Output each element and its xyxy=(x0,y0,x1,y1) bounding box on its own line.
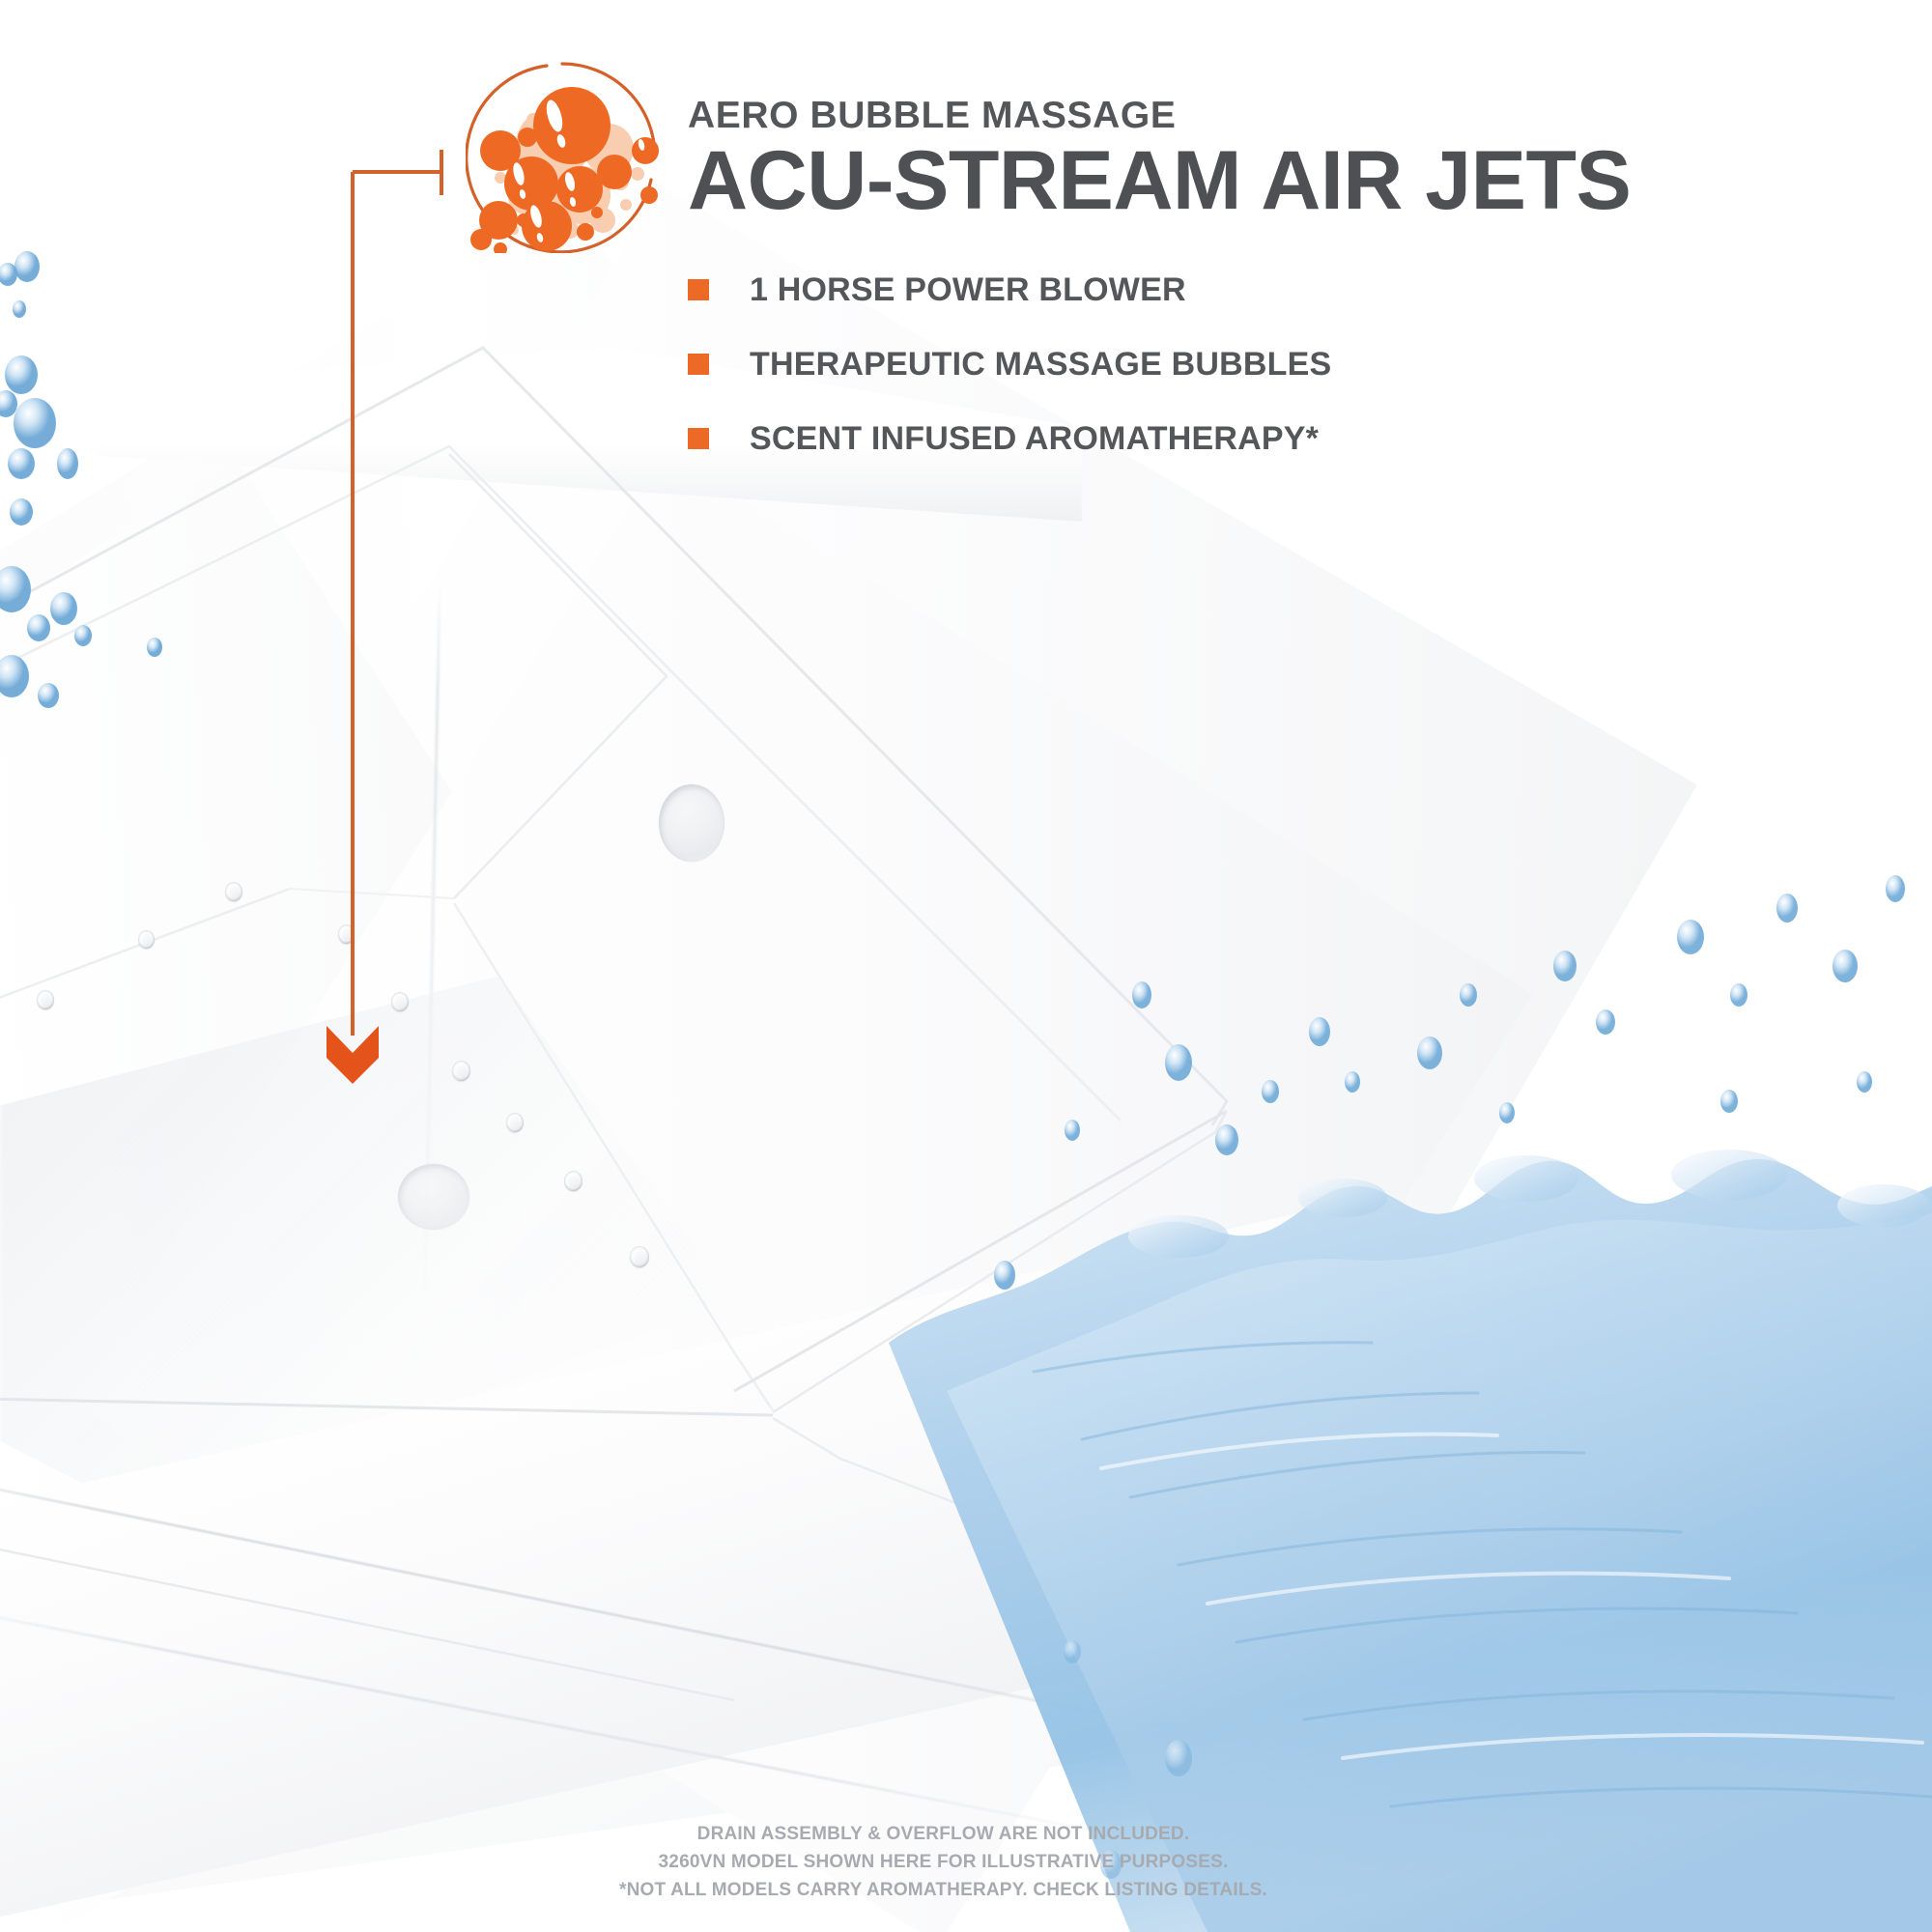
air-jet-hole xyxy=(452,1061,470,1081)
air-jet-hole xyxy=(506,1113,524,1132)
bullet-square-icon xyxy=(688,354,709,375)
drain-port xyxy=(398,1164,469,1230)
list-item: 1 HORSE POWER BLOWER xyxy=(688,273,1886,306)
air-jet-hole xyxy=(630,1246,649,1267)
bullet-square-icon xyxy=(688,428,709,449)
feature-label: 1 HORSE POWER BLOWER xyxy=(750,273,1186,306)
feature-label: SCENT INFUSED AROMATHERAPY* xyxy=(750,422,1319,455)
air-jet-hole xyxy=(338,924,355,944)
overflow-port xyxy=(659,784,724,862)
feature-list: 1 HORSE POWER BLOWER THERAPEUTIC MASSAGE… xyxy=(688,273,1886,455)
bullet-square-icon xyxy=(688,279,709,300)
page-title: ACU-STREAM AIR JETS xyxy=(688,140,1886,221)
list-item: THERAPEUTIC MASSAGE BUBBLES xyxy=(688,348,1886,381)
air-jet-hole xyxy=(391,992,409,1011)
headline-block: AERO BUBBLE MASSAGE ACU-STREAM AIR JETS … xyxy=(688,97,1886,497)
air-jet-hole xyxy=(225,882,242,901)
disclaimer-line-3: *NOT ALL MODELS CARRY AROMATHERAPY. CHEC… xyxy=(619,1877,1267,1905)
disclaimer-text: DRAIN ASSEMBLY & OVERFLOW ARE NOT INCLUD… xyxy=(619,1821,1267,1905)
air-jet-hole xyxy=(138,930,155,949)
bubbles-icon xyxy=(466,60,659,253)
air-jet-hole xyxy=(564,1171,582,1191)
disclaimer-line-2: 3260VN MODEL SHOWN HERE FOR ILLUSTRATIVE… xyxy=(619,1849,1267,1877)
disclaimer-line-1: DRAIN ASSEMBLY & OVERFLOW ARE NOT INCLUD… xyxy=(619,1821,1267,1849)
air-jet-hole xyxy=(37,990,54,1009)
eyebrow-text: AERO BUBBLE MASSAGE xyxy=(688,97,1886,134)
feature-label: THERAPEUTIC MASSAGE BUBBLES xyxy=(750,348,1331,381)
marketing-infographic: AERO BUBBLE MASSAGE ACU-STREAM AIR JETS … xyxy=(0,0,1932,1932)
list-item: SCENT INFUSED AROMATHERAPY* xyxy=(688,422,1886,455)
